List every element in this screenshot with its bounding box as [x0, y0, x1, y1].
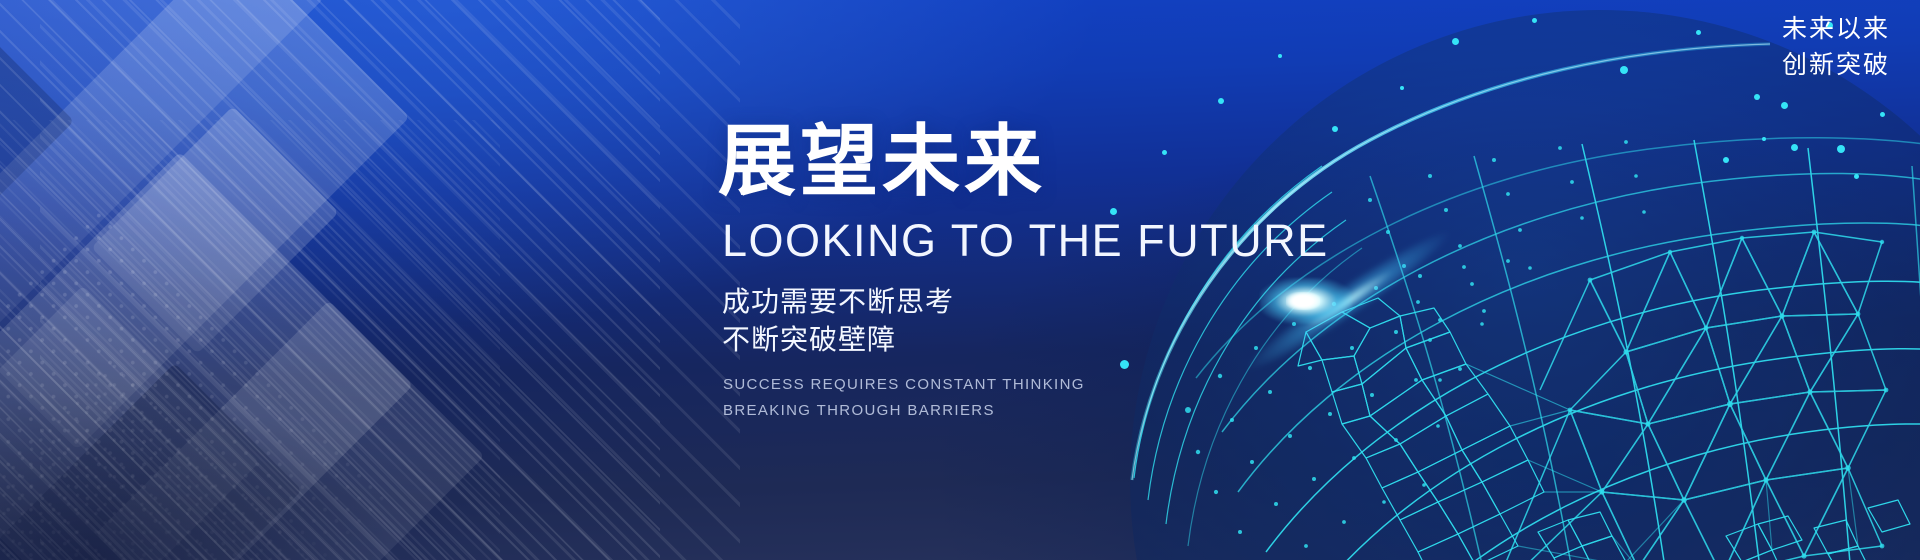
hero-banner: 未来以来 创新突破 展望未来 LOOKING TO THE FUTURE 成功需…: [0, 0, 1920, 560]
corner-spark-dot: [1854, 174, 1859, 179]
spark-dot: [1620, 66, 1628, 74]
decor-panel-6: [96, 301, 485, 560]
hero-text-block: 展望未来 LOOKING TO THE FUTURE 成功需要不断思考 不断突破…: [718, 122, 1329, 425]
decor-panel-8: [0, 363, 302, 560]
tagline-en: SUCCESS REQUIRES CONSTANT THINKING BREAK…: [723, 372, 1329, 425]
decor-panel-3: [0, 152, 413, 560]
spark-dot: [1532, 18, 1537, 23]
diagonal-stripes-primary: [0, 0, 660, 560]
diamond-dot-grid-primary: [0, 204, 396, 560]
corner-slogan-line-2: 创新突破: [1782, 48, 1890, 84]
spark-dot: [1452, 38, 1459, 45]
spark-dot: [1696, 30, 1701, 35]
corner-slogan-line-1: 未来以来: [1782, 12, 1890, 48]
decor-panel-5: [0, 286, 259, 560]
tagline-en-line-2: BREAKING THROUGH BARRIERS: [723, 398, 1329, 425]
diamond-dot-grid-secondary: [0, 357, 348, 560]
tagline-cn-line-2: 不断突破壁障: [722, 321, 1329, 360]
decor-panel-7: [0, 1, 74, 319]
spark-dot: [1278, 54, 1282, 58]
decor-panel-1: [0, 0, 324, 394]
page-title: 展望未来: [718, 122, 1329, 202]
corner-spark-dot: [1837, 145, 1845, 153]
spark-dot: [1754, 94, 1760, 100]
corner-spark-dot: [1762, 137, 1766, 141]
corner-spark-dot: [1791, 144, 1798, 151]
corner-spark-dot: [1723, 157, 1729, 163]
spark-dot: [1880, 112, 1885, 117]
diagonal-stripes-tertiary: [0, 120, 500, 560]
spark-dot: [1332, 126, 1338, 132]
tagline-cn-line-1: 成功需要不断思考: [722, 283, 1329, 322]
tagline-en-line-1: SUCCESS REQUIRES CONSTANT THINKING: [723, 372, 1329, 399]
spark-dot: [1218, 98, 1224, 104]
corner-spark-dot: [1781, 102, 1788, 109]
decor-panel-4: [91, 106, 338, 353]
corner-slogan: 未来以来 创新突破: [1782, 12, 1890, 83]
lower-left-vignette: [0, 260, 560, 560]
decor-panel-2: [0, 0, 410, 450]
tagline-cn: 成功需要不断思考 不断突破壁障: [722, 283, 1329, 360]
spark-dot: [1400, 86, 1404, 90]
page-subtitle-en: LOOKING TO THE FUTURE: [722, 218, 1329, 263]
diagonal-stripes-secondary: [40, 0, 740, 560]
